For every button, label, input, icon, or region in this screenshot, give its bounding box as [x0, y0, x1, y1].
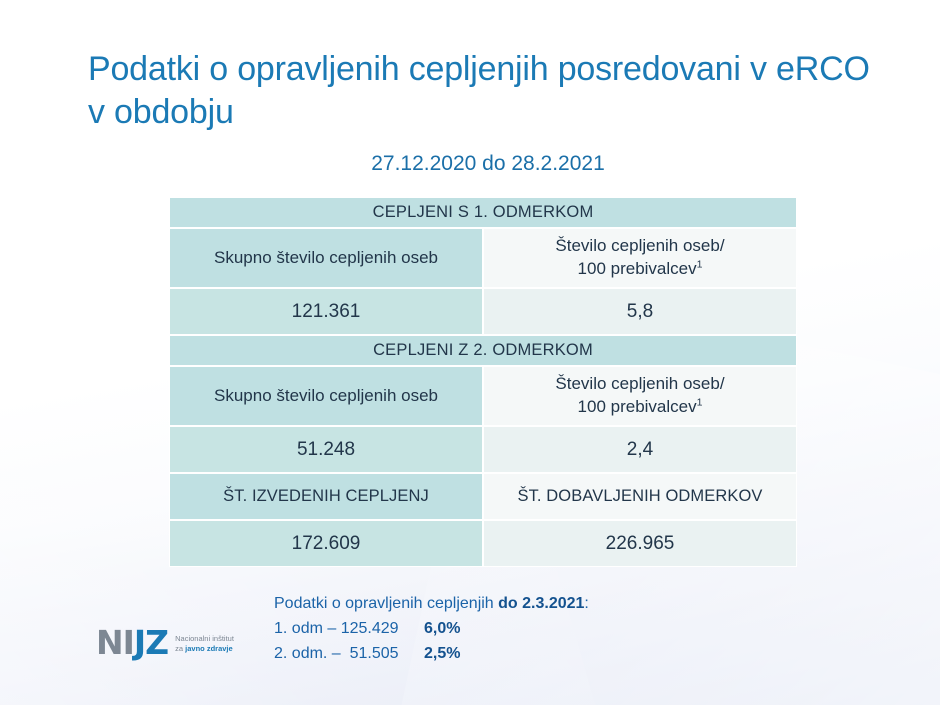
label-line-1: Število cepljenih oseb/ [555, 236, 724, 255]
value-vaccinations-performed: 172.609 [169, 520, 483, 567]
footnote-line-second-dose: 2. odm. – 51.5052,5% [274, 642, 589, 667]
table-row-section3-headers: ŠT. IZVEDENIH CEPLJENJ ŠT. DOBAVLJENIH O… [169, 473, 797, 520]
footnote-line-first-dose: 1. odm – 125.4296,0% [274, 617, 589, 642]
vaccination-table: CEPLJENI S 1. ODMERKOM Skupno število ce… [169, 197, 797, 567]
logo-subtitle-za: za [175, 644, 185, 653]
footnote-date: do 2.3.2021 [498, 595, 584, 612]
value-total-vaccinated-first-dose: 121.361 [169, 288, 483, 335]
value-per-100-second-dose: 2,4 [483, 426, 797, 473]
footnote-block: Podatki o opravljenih cepljenjih do 2.3.… [274, 592, 589, 666]
nijz-logo-mark: NIJZ [96, 626, 168, 659]
table-row-section3-values: 172.609 226.965 [169, 520, 797, 567]
label-per-100-inhabitants-first-dose: Število cepljenih oseb/ 100 prebivalcev1 [483, 228, 797, 288]
value-total-vaccinated-second-dose: 51.248 [169, 426, 483, 473]
label-per-100-inhabitants-second-dose: Število cepljenih oseb/ 100 prebivalcev1 [483, 366, 797, 426]
table-row-section1-values: 121.361 5,8 [169, 288, 797, 335]
table-row-section2-labels: Skupno število cepljenih oseb Število ce… [169, 366, 797, 426]
page-title: Podatki o opravljenih cepljenjih posredo… [88, 48, 888, 134]
footnote-marker-1: 1 [697, 396, 703, 408]
label-total-vaccinated-first-dose: Skupno število cepljenih oseb [169, 228, 483, 288]
table-row-section2-header: CEPLJENI Z 2. ODMERKOM [169, 335, 797, 366]
label-total-vaccinated-second-dose: Skupno število cepljenih oseb [169, 366, 483, 426]
slide-canvas: Podatki o opravljenih cepljenjih posredo… [0, 0, 940, 705]
value-doses-delivered: 226.965 [483, 520, 797, 567]
label-line-2: 100 prebivalcev [578, 259, 697, 278]
nijz-logo-subtitle: Nacionalni inštitut za javno zdravje [175, 631, 234, 654]
footnote-line-latest-data: Podatki o opravljenih cepljenjih do 2.3.… [274, 592, 589, 617]
table-row-section1-labels: Skupno število cepljenih oseb Število ce… [169, 228, 797, 288]
table-row-section2-values: 51.248 2,4 [169, 426, 797, 473]
header-doses-delivered: ŠT. DOBAVLJENIH ODMERKOV [483, 473, 797, 520]
section-header-second-dose: CEPLJENI Z 2. ODMERKOM [169, 335, 797, 366]
nijz-logo: NIJZ Nacionalni inštitut za javno zdravj… [96, 626, 234, 659]
footnote-first-dose-count: 1. odm – 125.429 [274, 617, 424, 642]
logo-subtitle-bold: javno zdravje [185, 644, 233, 653]
value-per-100-first-dose: 5,8 [483, 288, 797, 335]
logo-mark-ni: NI [96, 623, 134, 662]
header-vaccinations-performed: ŠT. IZVEDENIH CEPLJENJ [169, 473, 483, 520]
footnote-prefix: Podatki o opravljenih cepljenjih [274, 595, 498, 612]
label-line-2: 100 prebivalcev [578, 397, 697, 416]
logo-mark-jz: JZ [134, 623, 168, 662]
footnote-second-dose-count: 2. odm. – 51.505 [274, 642, 424, 667]
vaccination-table-container: CEPLJENI S 1. ODMERKOM Skupno število ce… [169, 197, 797, 567]
table-row-section1-header: CEPLJENI S 1. ODMERKOM [169, 197, 797, 228]
logo-subtitle-line-1: Nacionalni inštitut [175, 634, 234, 644]
label-line-1: Število cepljenih oseb/ [555, 374, 724, 393]
page-subtitle-date-range: 27.12.2020 do 28.2.2021 [88, 152, 888, 176]
footnote-marker-1: 1 [697, 258, 703, 270]
logo-subtitle-line-2: za javno zdravje [175, 644, 234, 654]
section-header-first-dose: CEPLJENI S 1. ODMERKOM [169, 197, 797, 228]
footnote-first-dose-percent: 6,0% [424, 620, 460, 637]
footnote-colon: : [584, 595, 588, 612]
footnote-second-dose-percent: 2,5% [424, 645, 460, 662]
